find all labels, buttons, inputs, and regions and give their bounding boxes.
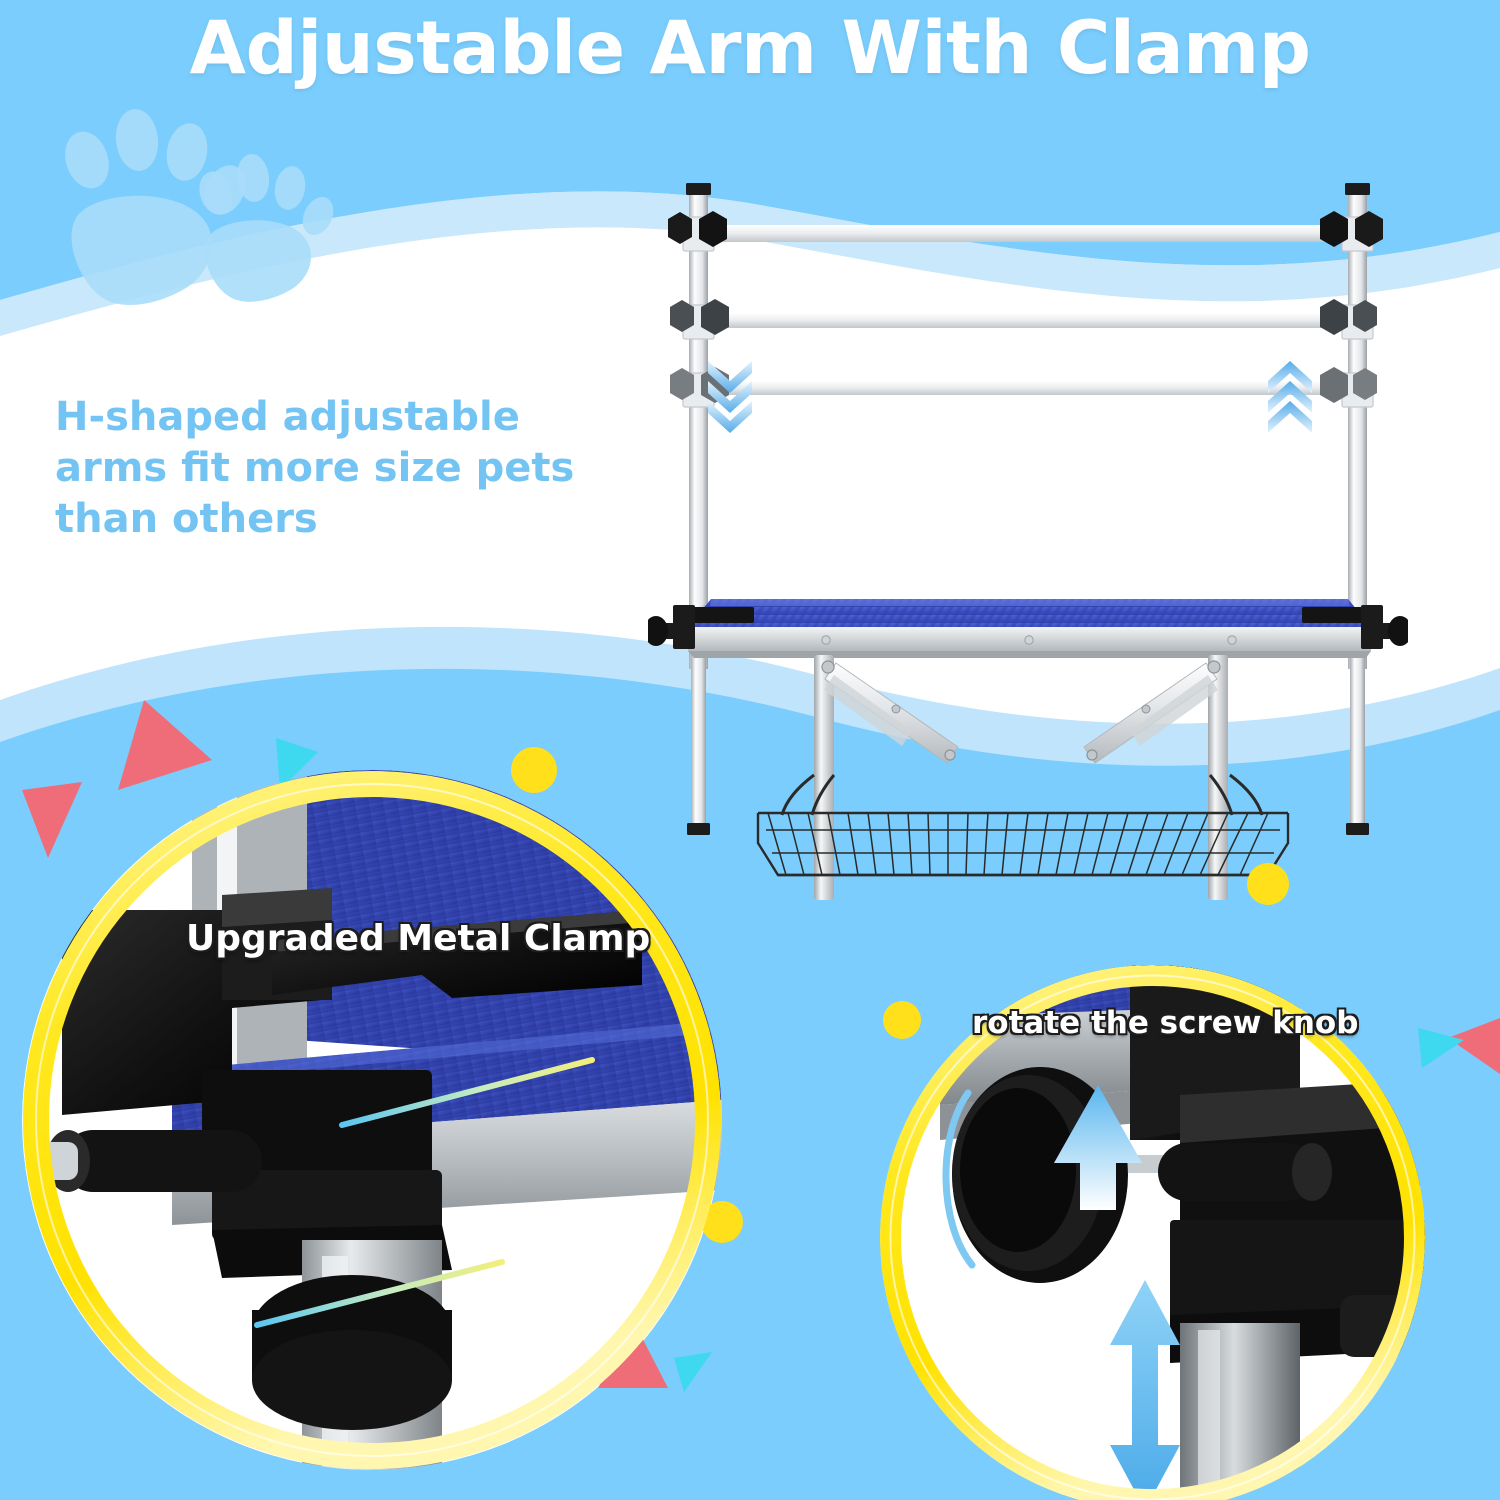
callout-screw-knob (880, 965, 1425, 1500)
callout-photo-clamp (22, 770, 722, 1470)
feature-blurb: H-shaped adjustable arms fit more size p… (55, 392, 595, 546)
product-infographic: Adjustable Arm With Clamp H-shaped adjus… (0, 0, 1500, 1500)
chevron-up-icon (1268, 361, 1312, 433)
page-title: Adjustable Arm With Clamp (0, 6, 1500, 91)
callout-metal-clamp (22, 770, 722, 1470)
callout-label-metal-clamp: Upgraded Metal Clamp (186, 918, 650, 959)
table-top (688, 599, 1371, 658)
callout-photo-knob (880, 965, 1425, 1500)
product-image-grooming-table (648, 175, 1408, 905)
adjustable-arm-middle (670, 299, 1377, 335)
callout-label-screw-knob: rotate the screw knob (972, 1005, 1358, 1041)
chevron-down-icon (708, 361, 752, 433)
vertical-post-right (1342, 183, 1373, 835)
vertical-post-left (683, 183, 714, 835)
adjustable-arm-top (668, 211, 1383, 247)
